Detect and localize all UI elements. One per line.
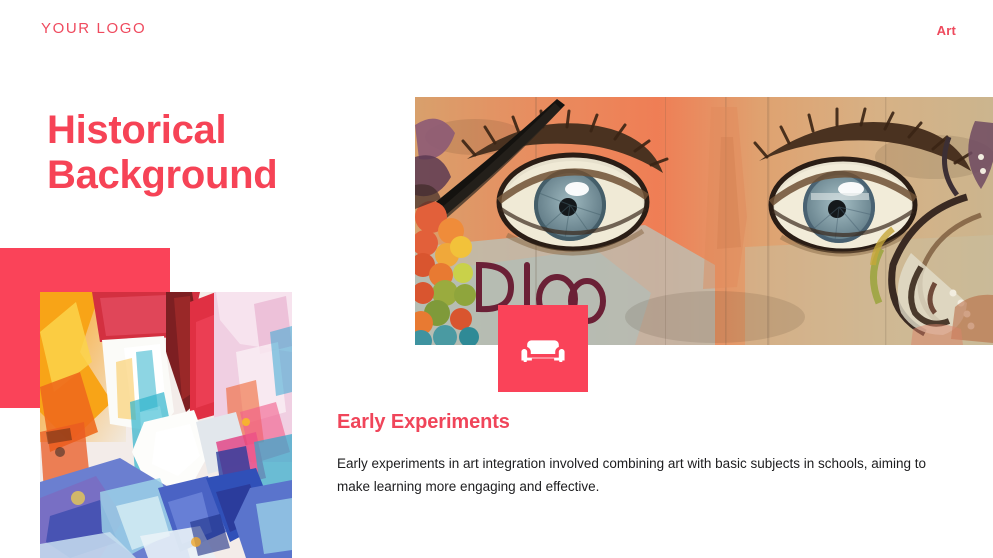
nav-item-art[interactable]: Art — [937, 23, 956, 38]
logo: YOUR LOGO — [41, 20, 146, 37]
section-title: Early Experiments — [337, 411, 510, 434]
couch-icon-badge — [498, 305, 588, 392]
section-paragraph: Early experiments in art integration inv… — [337, 452, 945, 498]
slide-canvas: YOUR LOGO Art Historical Background — [0, 0, 993, 558]
couch-icon — [520, 326, 566, 372]
page-title: Historical Background — [47, 108, 367, 198]
abstract-painting-image — [40, 292, 292, 558]
